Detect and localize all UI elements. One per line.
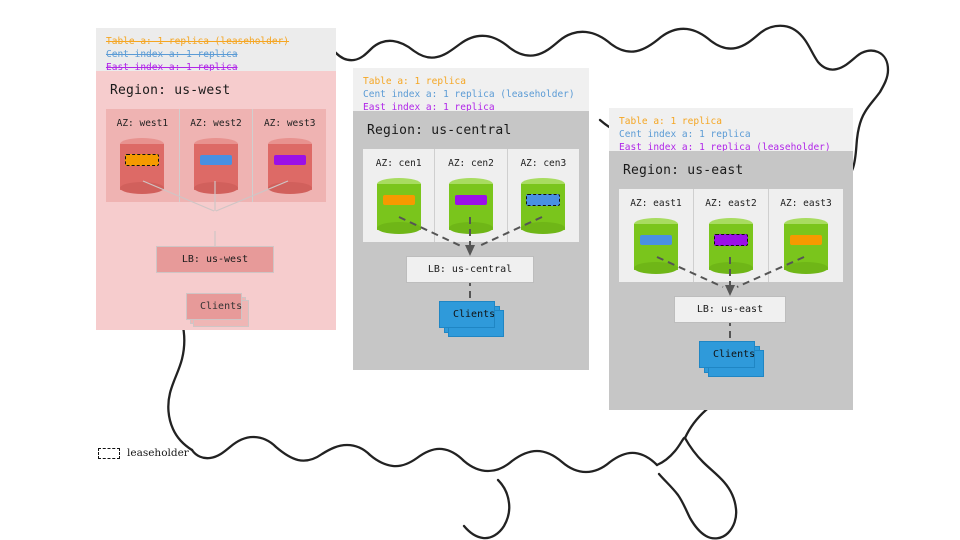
replica-bar-cent-index-a xyxy=(640,235,672,245)
replica-line-cent-index-a: Cent index a: 1 replica (leaseholder) xyxy=(363,88,579,101)
region-body-us-central: Region: us-central AZ: cen1 xyxy=(353,111,589,370)
clients-us-central[interactable]: Clients xyxy=(439,301,495,328)
replica-bar-cent-index-a-leaseholder xyxy=(526,194,560,206)
clients-group-us-east: Clients xyxy=(699,341,755,368)
az-west2[interactable]: AZ: west2 xyxy=(179,109,253,202)
region-panel-us-west: Table a: 1 replica (leaseholder) Cent in… xyxy=(96,28,336,330)
az-cen3[interactable]: AZ: cen3 xyxy=(507,149,579,242)
replica-line-table-a: Table a: 1 replica xyxy=(619,115,843,128)
clients-label: Clients xyxy=(713,349,755,360)
replica-bar-east-index-a-leaseholder xyxy=(714,234,748,246)
clients-label: Clients xyxy=(200,301,242,312)
replica-line-cent-index-a: Cent index a: 1 replica xyxy=(619,128,843,141)
cylinder-bottom xyxy=(449,222,493,234)
replica-legend-us-central: Table a: 1 replica Cent index a: 1 repli… xyxy=(353,68,589,111)
az-label-east1: AZ: east1 xyxy=(619,198,693,209)
az-east1[interactable]: AZ: east1 xyxy=(619,189,693,282)
region-panel-us-central: Table a: 1 replica Cent index a: 1 repli… xyxy=(353,68,589,370)
cylinder-bottom xyxy=(377,222,421,234)
cylinder-bottom xyxy=(784,262,828,274)
node-cylinder-cen3[interactable] xyxy=(521,178,565,234)
replica-line-cent-index-a: Cent index a: 1 replica xyxy=(106,48,326,61)
node-cylinder-cen2[interactable] xyxy=(449,178,493,234)
region-body-us-east: Region: us-east AZ: east1 xyxy=(609,151,853,410)
replica-bar-table-a xyxy=(790,235,822,245)
replica-line-table-a: Table a: 1 replica (leaseholder) xyxy=(106,35,326,48)
legend-label: leaseholder xyxy=(127,447,189,459)
cylinder-bottom xyxy=(268,182,312,194)
cylinder-bottom xyxy=(521,222,565,234)
diagram-canvas: Table a: 1 replica (leaseholder) Cent in… xyxy=(0,0,960,540)
az-west1[interactable]: AZ: west1 xyxy=(106,109,179,202)
az-label-west3: AZ: west3 xyxy=(253,118,326,129)
az-west3[interactable]: AZ: west3 xyxy=(252,109,326,202)
cylinder-bottom xyxy=(194,182,238,194)
replica-line-table-a: Table a: 1 replica xyxy=(363,75,579,88)
replica-bar-cent-index-a xyxy=(200,155,232,165)
clients-label: Clients xyxy=(453,309,495,320)
az-label-cen1: AZ: cen1 xyxy=(363,158,434,169)
region-panel-us-east: Table a: 1 replica Cent index a: 1 repli… xyxy=(609,108,853,410)
node-cylinder-west3[interactable] xyxy=(268,138,312,194)
clients-group-us-central: Clients xyxy=(439,301,495,328)
az-row-us-central: AZ: cen1 AZ: cen2 xyxy=(363,149,579,242)
load-balancer-us-west[interactable]: LB: us-west xyxy=(156,246,274,273)
region-title-us-east: Region: us-east xyxy=(609,151,853,178)
replica-bar-table-a-leaseholder xyxy=(125,154,159,166)
az-row-us-west: AZ: west1 AZ: west2 xyxy=(106,109,326,202)
az-label-cen3: AZ: cen3 xyxy=(508,158,579,169)
az-label-east2: AZ: east2 xyxy=(694,198,768,209)
az-label-west1: AZ: west1 xyxy=(106,118,179,129)
az-cen2[interactable]: AZ: cen2 xyxy=(434,149,506,242)
node-cylinder-east2[interactable] xyxy=(709,218,753,274)
replica-legend-us-east: Table a: 1 replica Cent index a: 1 repli… xyxy=(609,108,853,151)
load-balancer-us-east[interactable]: LB: us-east xyxy=(674,296,786,323)
az-east3[interactable]: AZ: east3 xyxy=(768,189,843,282)
node-cylinder-west1[interactable] xyxy=(120,138,164,194)
replica-bar-table-a xyxy=(383,195,415,205)
node-cylinder-west2[interactable] xyxy=(194,138,238,194)
az-label-east3: AZ: east3 xyxy=(769,198,843,209)
node-cylinder-east3[interactable] xyxy=(784,218,828,274)
az-row-us-east: AZ: east1 AZ: east2 xyxy=(619,189,843,282)
node-cylinder-east1[interactable] xyxy=(634,218,678,274)
cylinder-bottom xyxy=(634,262,678,274)
cylinder-bottom xyxy=(709,262,753,274)
az-label-west2: AZ: west2 xyxy=(180,118,253,129)
az-label-cen2: AZ: cen2 xyxy=(435,158,506,169)
region-body-us-west: Region: us-west AZ: west1 xyxy=(96,71,336,330)
region-title-us-west: Region: us-west xyxy=(96,71,336,98)
clients-group-us-west: Clients xyxy=(186,293,242,320)
clients-us-west[interactable]: Clients xyxy=(186,293,242,320)
node-cylinder-cen1[interactable] xyxy=(377,178,421,234)
region-title-us-central: Region: us-central xyxy=(353,111,589,138)
replica-bar-east-index-a xyxy=(274,155,306,165)
az-cen1[interactable]: AZ: cen1 xyxy=(363,149,434,242)
az-east2[interactable]: AZ: east2 xyxy=(693,189,768,282)
replica-bar-east-index-a xyxy=(455,195,487,205)
dashed-rect-icon xyxy=(98,448,120,459)
clients-us-east[interactable]: Clients xyxy=(699,341,755,368)
legend: leaseholder xyxy=(98,447,189,459)
replica-legend-us-west: Table a: 1 replica (leaseholder) Cent in… xyxy=(96,28,336,71)
cylinder-bottom xyxy=(120,182,164,194)
load-balancer-us-central[interactable]: LB: us-central xyxy=(406,256,534,283)
